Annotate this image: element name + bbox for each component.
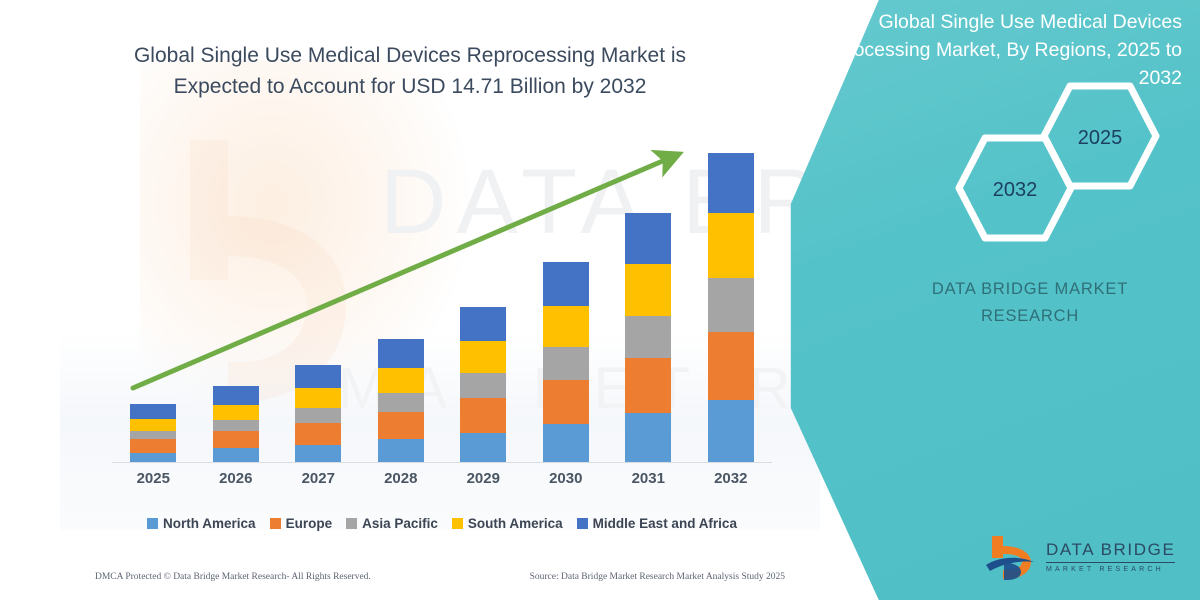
data-bridge-logo: DATA BRIDGE MARKET RESEARCH: [984, 534, 1184, 586]
footer-copyright: DMCA Protected © Data Bridge Market Rese…: [95, 572, 371, 582]
panel-brand-line-2: RESEARCH: [880, 303, 1180, 330]
legend-label: North America: [163, 516, 256, 531]
logo-text: DATA BRIDGE MARKET RESEARCH: [1046, 540, 1175, 573]
bar-segment: [213, 448, 259, 462]
bar-segment: [213, 386, 259, 405]
bar-segment: [295, 423, 341, 445]
bar-column-2029: [460, 307, 506, 462]
legend-swatch-icon: [346, 518, 357, 529]
bar-segment: [130, 453, 176, 462]
bar-segment: [130, 439, 176, 453]
bar-segment: [708, 213, 754, 278]
bar-segment: [378, 339, 424, 367]
bar-column-2032: [708, 153, 754, 462]
bar-segment: [295, 408, 341, 423]
bar-segment: [378, 439, 424, 462]
legend-item[interactable]: North America: [147, 516, 256, 531]
x-axis-labels: 20252026202720282029203020312032: [112, 470, 772, 500]
bar-segment: [543, 347, 589, 381]
panel-title: Global Single Use Medical Devices Reproc…: [802, 8, 1182, 92]
x-axis-label-2028: 2028: [361, 470, 441, 487]
bar-column-2030: [543, 262, 589, 462]
teal-side-panel: Global Single Use Medical Devices Reproc…: [760, 0, 1200, 600]
x-axis-label-2025: 2025: [113, 470, 193, 487]
data-bridge-b-mark-icon: [984, 534, 1042, 582]
bar-segment: [625, 413, 671, 462]
bar-segment: [460, 341, 506, 373]
bar-column-2025: [130, 404, 176, 462]
logo-name: DATA BRIDGE: [1046, 540, 1175, 563]
bar-segment: [625, 213, 671, 264]
bar-column-2027: [295, 365, 341, 462]
bar-segment: [543, 424, 589, 462]
legend-swatch-icon: [147, 518, 158, 529]
bar-segment: [708, 400, 754, 462]
x-axis-label-2031: 2031: [608, 470, 688, 487]
bar-segment: [543, 306, 589, 347]
bar-segment: [213, 405, 259, 420]
x-axis-label-2030: 2030: [526, 470, 606, 487]
x-axis-label-2026: 2026: [196, 470, 276, 487]
bar-segment: [625, 316, 671, 359]
legend-item[interactable]: Asia Pacific: [346, 516, 438, 531]
bar-segment: [543, 380, 589, 424]
footer-source: Source: Data Bridge Market Research Mark…: [530, 572, 785, 582]
bar-segment: [543, 262, 589, 306]
legend-label: Asia Pacific: [362, 516, 438, 531]
legend-label: Middle East and Africa: [593, 516, 737, 531]
x-axis-line: [112, 462, 772, 463]
bar-segment: [295, 365, 341, 389]
bar-segment: [708, 278, 754, 333]
bar-segment: [460, 373, 506, 398]
bar-column-2031: [625, 213, 671, 462]
infographic-canvas: DATA BRIDGE MARKET RESEARCH Global Singl…: [0, 0, 1200, 600]
bar-column-2026: [213, 386, 259, 462]
bar-segment: [130, 419, 176, 431]
bar-segment: [378, 368, 424, 393]
panel-brand-line-1: DATA BRIDGE MARKET: [932, 280, 1128, 298]
bar-segment: [708, 153, 754, 213]
bar-segment: [295, 445, 341, 462]
bar-segment: [460, 398, 506, 433]
bar-segment: [378, 393, 424, 412]
legend-item[interactable]: Middle East and Africa: [577, 516, 737, 531]
bar-segment: [130, 431, 176, 439]
legend-swatch-icon: [577, 518, 588, 529]
legend-swatch-icon: [270, 518, 281, 529]
x-axis-label-2032: 2032: [691, 470, 771, 487]
stacked-bar-chart: 20252026202720282029203020312032: [0, 0, 820, 600]
legend-label: Europe: [286, 516, 333, 531]
panel-brand: DATA BRIDGE MARKET RESEARCH: [880, 276, 1180, 330]
bar-segment: [295, 388, 341, 408]
legend-item[interactable]: South America: [452, 516, 563, 531]
bar-column-2028: [378, 339, 424, 462]
chart-legend: North AmericaEuropeAsia PacificSouth Ame…: [112, 512, 772, 534]
bar-group: [112, 140, 772, 462]
bar-segment: [625, 264, 671, 316]
legend-label: South America: [468, 516, 563, 531]
bar-segment: [625, 358, 671, 413]
bar-segment: [460, 307, 506, 342]
x-axis-label-2027: 2027: [278, 470, 358, 487]
bar-segment: [213, 431, 259, 448]
bar-segment: [708, 332, 754, 400]
legend-item[interactable]: Europe: [270, 516, 333, 531]
bar-segment: [460, 433, 506, 462]
bar-segment: [130, 404, 176, 419]
bar-segment: [213, 420, 259, 431]
logo-tagline: MARKET RESEARCH: [1046, 566, 1175, 573]
x-axis-label-2029: 2029: [443, 470, 523, 487]
footer: DMCA Protected © Data Bridge Market Rese…: [95, 568, 785, 586]
bar-segment: [378, 412, 424, 439]
legend-swatch-icon: [452, 518, 463, 529]
